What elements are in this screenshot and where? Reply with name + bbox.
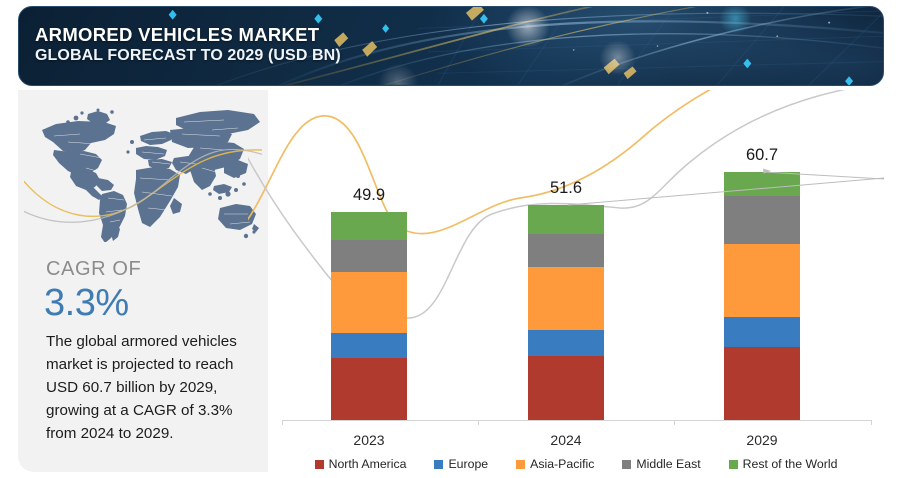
x-label-2024: 2024 (506, 432, 626, 448)
legend-label: North America (329, 457, 407, 471)
legend-swatch-icon (516, 460, 525, 469)
legend-swatch-icon (729, 460, 738, 469)
bar-2024[interactable]: 51.6 (528, 205, 604, 420)
segment-middle-east-2029[interactable] (724, 196, 800, 244)
segment-rest-of-the-world-2024[interactable] (528, 205, 604, 234)
bar-2023[interactable]: 49.9 (331, 212, 407, 420)
legend-item-rest-of-the-world[interactable]: Rest of the World (729, 457, 838, 471)
infographic-root: ARMORED VEHICLES MARKET GLOBAL FORECAST … (0, 0, 900, 478)
legend-label: Middle East (636, 457, 700, 471)
segment-north-america-2024[interactable] (528, 356, 604, 420)
bar-total-label-2024: 51.6 (496, 179, 636, 198)
axis-tick (282, 420, 283, 425)
x-label-2023: 2023 (309, 432, 429, 448)
segment-europe-2023[interactable] (331, 333, 407, 358)
axis-tick (871, 420, 872, 425)
cagr-value: 3.3% (44, 282, 129, 325)
segment-europe-2024[interactable] (528, 330, 604, 356)
segment-rest-of-the-world-2023[interactable] (331, 212, 407, 240)
legend-item-asia-pacific[interactable]: Asia-Pacific (516, 457, 594, 471)
bar-total-label-2023: 49.9 (299, 186, 439, 205)
world-map-graphic (24, 102, 262, 242)
legend-item-middle-east[interactable]: Middle East (622, 457, 700, 471)
legend-swatch-icon (315, 460, 324, 469)
cagr-label: CAGR OF (46, 258, 141, 281)
segment-rest-of-the-world-2029[interactable] (724, 172, 800, 196)
axis-tick (478, 420, 479, 425)
left-info-panel: CAGR OF 3.3% The global armored vehicles… (18, 90, 268, 472)
chart-panel: 49.9 51.6 60.7 (268, 90, 884, 472)
legend-item-europe[interactable]: Europe (434, 457, 488, 471)
segment-north-america-2023[interactable] (331, 358, 407, 420)
segment-asia-pacific-2029[interactable] (724, 244, 800, 317)
bar-2029[interactable]: 60.7 (724, 172, 800, 420)
description-text: The global armored vehicles market is pr… (46, 330, 258, 445)
legend-item-north-america[interactable]: North America (315, 457, 407, 471)
legend-label: Asia-Pacific (530, 457, 594, 471)
world-map-icon (24, 102, 262, 242)
legend-label: Rest of the World (743, 457, 838, 471)
segment-asia-pacific-2023[interactable] (331, 272, 407, 333)
segment-middle-east-2023[interactable] (331, 240, 407, 272)
banner-subtitle: GLOBAL FORECAST TO 2029 (USD BN) (35, 47, 341, 65)
segment-middle-east-2024[interactable] (528, 234, 604, 267)
x-axis-labels: 2023 2024 2029 (268, 432, 884, 454)
chart-legend: North America Europe Asia-Pacific Middle… (268, 452, 884, 476)
x-label-2029: 2029 (702, 432, 822, 448)
bar-total-label-2029: 60.7 (692, 146, 832, 165)
header-banner: ARMORED VEHICLES MARKET GLOBAL FORECAST … (18, 6, 884, 86)
axis-tick (674, 420, 675, 425)
legend-swatch-icon (434, 460, 443, 469)
banner-title: ARMORED VEHICLES MARKET (35, 25, 341, 46)
legend-label: Europe (448, 457, 488, 471)
plot-region: 49.9 51.6 60.7 (268, 90, 884, 430)
segment-asia-pacific-2024[interactable] (528, 267, 604, 330)
legend-swatch-icon (622, 460, 631, 469)
segment-north-america-2029[interactable] (724, 347, 800, 420)
segment-europe-2029[interactable] (724, 317, 800, 347)
x-axis-line (282, 420, 872, 421)
